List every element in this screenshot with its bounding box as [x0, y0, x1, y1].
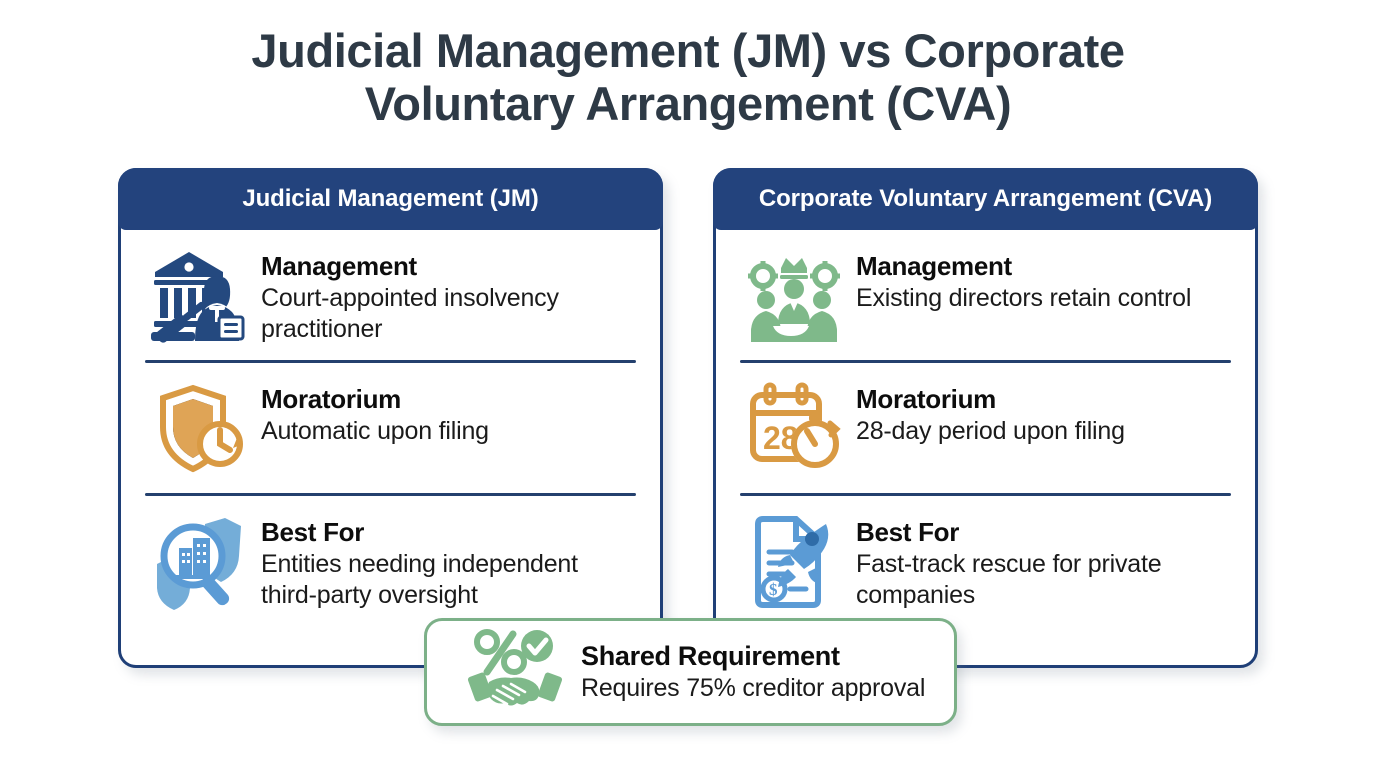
card-body-cva: Management Existing directors retain con… — [716, 230, 1255, 626]
row-text-cva-best-for: Best For Fast-track rescue for private c… — [850, 512, 1233, 611]
card-body-jm: Management Court-appointed insolvency pr… — [121, 230, 660, 626]
row-title: Best For — [261, 517, 638, 547]
row-desc: Automatic upon filing — [261, 416, 489, 447]
row-desc: Fast-track rescue for private companies — [856, 549, 1233, 611]
row-cva-moratorium: 28 Moratorium 28-day period upon filing — [728, 363, 1243, 493]
row-jm-moratorium: Moratorium Automatic upon filing — [133, 363, 648, 493]
shared-requirement-text: Shared Requirement Requires 75% creditor… — [569, 640, 925, 704]
svg-text:$: $ — [769, 580, 778, 599]
courthouse-gavel-practitioner-icon — [143, 246, 255, 346]
card-header-title-jm: Judicial Management (JM) — [242, 185, 538, 213]
page-title: Judicial Management (JM) vs Corporate Vo… — [188, 24, 1188, 130]
card-judicial-management: Judicial Management (JM) — [118, 168, 663, 668]
row-desc: 28-day period upon filing — [856, 416, 1125, 447]
magnifier-building-shield-icon — [143, 512, 255, 612]
row-text-cva-management: Management Existing directors retain con… — [850, 246, 1191, 314]
row-jm-management: Management Court-appointed insolvency pr… — [133, 230, 648, 360]
calendar-28-stopwatch-icon: 28 — [738, 379, 850, 479]
row-text-jm-moratorium: Moratorium Automatic upon filing — [255, 379, 489, 447]
row-desc: Court-appointed insolvency practitioner — [261, 283, 638, 345]
document-rocket-dollar-icon: $ — [738, 512, 850, 612]
shared-requirement-desc: Requires 75% creditor approval — [581, 673, 925, 704]
card-header-title-cva: Corporate Voluntary Arrangement (CVA) — [759, 185, 1212, 213]
row-cva-best-for: $ Best For Fast-track rescue for priv — [728, 496, 1243, 626]
row-desc: Entities needing independent third-party… — [261, 549, 638, 611]
row-text-jm-management: Management Court-appointed insolvency pr… — [255, 246, 638, 345]
row-jm-best-for: Best For Entities needing independent th… — [133, 496, 648, 626]
row-title: Best For — [856, 517, 1233, 547]
shared-requirement-title: Shared Requirement — [581, 640, 925, 672]
row-cva-management: Management Existing directors retain con… — [728, 230, 1243, 360]
infographic-canvas: Judicial Management (JM) vs Corporate Vo… — [0, 0, 1376, 768]
card-header-cva: Corporate Voluntary Arrangement (CVA) — [713, 168, 1258, 230]
row-desc: Existing directors retain control — [856, 283, 1191, 314]
handshake-percent-check-icon — [465, 628, 569, 716]
row-title: Management — [261, 251, 638, 281]
boardroom-crown-gears-icon — [738, 246, 850, 346]
card-corporate-voluntary-arrangement: Corporate Voluntary Arrangement (CVA) — [713, 168, 1258, 668]
shared-requirement-badge: Shared Requirement Requires 75% creditor… — [424, 618, 957, 726]
row-title: Moratorium — [856, 384, 1125, 414]
row-title: Moratorium — [261, 384, 489, 414]
row-text-cva-moratorium: Moratorium 28-day period upon filing — [850, 379, 1125, 447]
row-title: Management — [856, 251, 1191, 281]
shield-clock-icon — [143, 379, 255, 479]
card-header-jm: Judicial Management (JM) — [118, 168, 663, 230]
row-text-jm-best-for: Best For Entities needing independent th… — [255, 512, 638, 611]
